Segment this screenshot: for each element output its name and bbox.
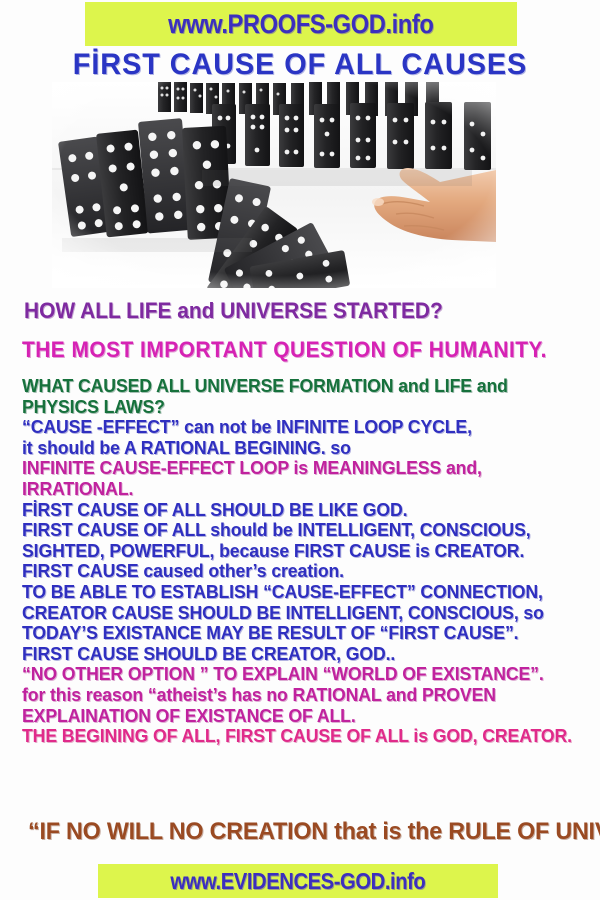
argument-line: CREATOR CAUSE SHOULD BE INTELLIGENT, CON… <box>22 603 581 624</box>
argument-line: WHAT CAUSED ALL UNIVERSE FORMATION and L… <box>22 376 581 397</box>
domino-photo-svg <box>52 82 496 288</box>
argument-line: IRRATIONAL. <box>22 479 581 500</box>
headline-how-started: HOW ALL LIFE and UNIVERSE STARTED? <box>24 298 443 324</box>
top-url-text: www.PROOFS-GOD.info <box>168 9 433 40</box>
argument-line: SIGHTED, POWERFUL, because FIRST CAUSE i… <box>22 541 581 562</box>
argument-line: EXPLAINATION OF EXISTANCE OF ALL. <box>22 706 581 727</box>
poster-root: www.PROOFS-GOD.info FİRST CAUSE OF ALL C… <box>0 0 600 900</box>
argument-line: “CAUSE -EFFECT” can not be INFINITE LOOP… <box>22 417 581 438</box>
argument-line: TO BE ABLE TO ESTABLISH “CAUSE-EFFECT” C… <box>22 582 581 603</box>
domino-chain-photo <box>52 82 496 288</box>
argument-text-block: WHAT CAUSED ALL UNIVERSE FORMATION and L… <box>22 376 598 747</box>
top-url-banner[interactable]: www.PROOFS-GOD.info <box>85 2 517 46</box>
argument-line: FIRST CAUSE OF ALL should be INTELLIGENT… <box>22 520 581 541</box>
page-title: FİRST CAUSE OF ALL CAUSES <box>12 48 588 82</box>
argument-line: FIRST CAUSE caused other’s creation. <box>22 561 581 582</box>
argument-line: TODAY’S EXISTANCE MAY BE RESULT OF “FIRS… <box>22 623 581 644</box>
headline-most-important-question: THE MOST IMPORTANT QUESTION OF HUMANITY. <box>22 337 547 363</box>
argument-line: PHYSICS LAWS? <box>22 397 581 418</box>
argument-line: for this reason “atheist’s has no RATION… <box>22 685 581 706</box>
bottom-url-text: www.EVIDENCES-GOD.info <box>171 868 426 895</box>
final-quote: “IF NO WILL NO CREATION that is the RULE… <box>28 818 600 846</box>
bottom-url-banner[interactable]: www.EVIDENCES-GOD.info <box>98 864 498 898</box>
argument-line: it should be A RATIONAL BEGINING. so <box>22 438 581 459</box>
argument-line: INFINITE CAUSE-EFFECT LOOP is MEANINGLES… <box>22 458 581 479</box>
argument-line: THE BEGINING OF ALL, FIRST CAUSE OF ALL … <box>22 726 581 747</box>
argument-line: FİRST CAUSE OF ALL SHOULD BE LIKE GOD. <box>22 500 581 521</box>
argument-line: “NO OTHER OPTION ” TO EXPLAIN “WORLD OF … <box>22 664 581 685</box>
argument-line: FIRST CAUSE SHOULD BE CREATOR, GOD.. <box>22 644 581 665</box>
